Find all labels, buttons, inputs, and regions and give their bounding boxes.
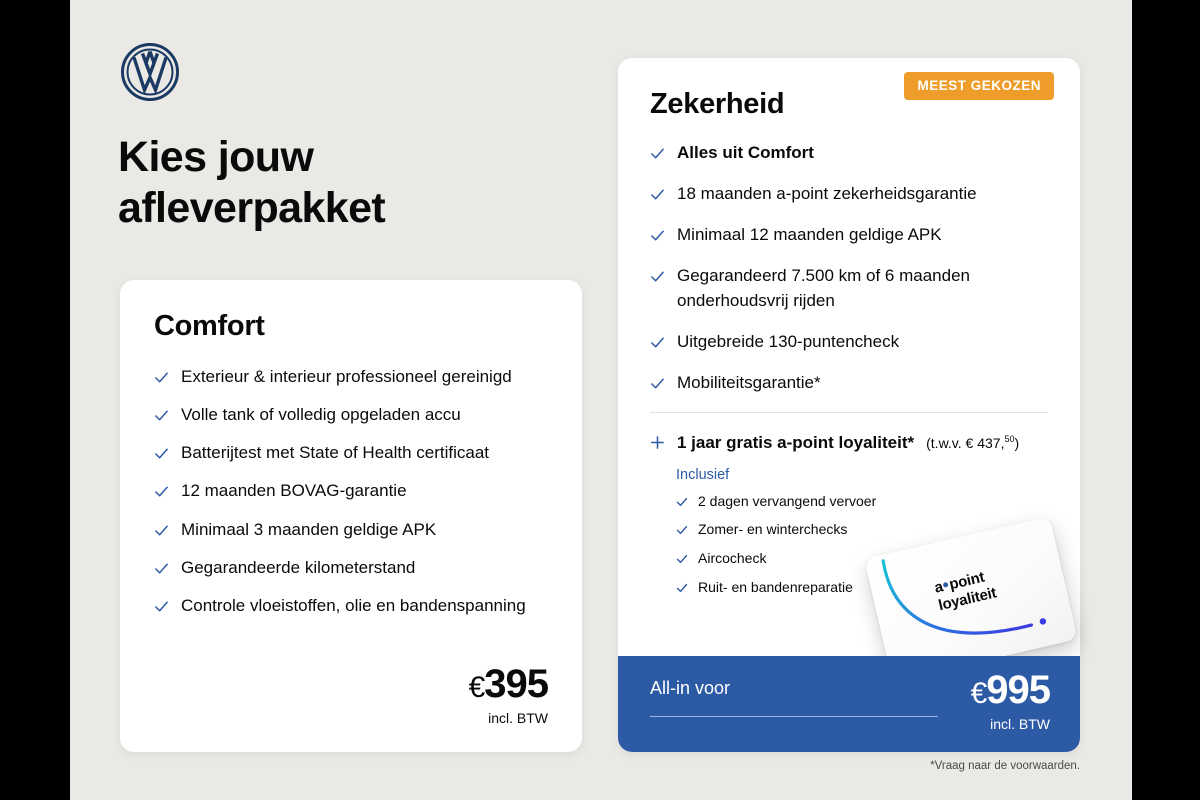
loyalty-title: 1 jaar gratis a-point loyaliteit* (677, 433, 914, 453)
check-icon (650, 335, 665, 350)
check-icon (650, 146, 665, 161)
footnote-text: *Vraag naar de voorwaarden. (930, 760, 1080, 772)
check-icon (650, 376, 665, 391)
list-item: Volle tank of volledig opgeladen accu (154, 403, 548, 427)
feature-text: Gegarandeerd 7.500 km of 6 maanden onder… (677, 264, 1048, 312)
list-item: Controle vloeistoffen, olie en bandenspa… (154, 594, 548, 618)
feature-text: Exterieur & interieur professioneel gere… (181, 365, 512, 389)
currency-symbol: € (971, 677, 987, 710)
feature-text: Alles uit Comfort (677, 141, 814, 165)
section-divider (650, 412, 1048, 413)
plus-icon (650, 435, 665, 450)
allin-price-footer: All-in voor €995 incl. BTW (618, 656, 1080, 752)
inclusief-label: Inclusief (676, 467, 1048, 483)
check-icon (154, 370, 169, 385)
list-item: Minimaal 3 maanden geldige APK (154, 518, 548, 542)
loyalty-value-suffix: ) (1014, 435, 1019, 451)
check-icon (154, 484, 169, 499)
list-item: Mobiliteitsgarantie* (650, 371, 1048, 395)
list-item: Gegarandeerde kilometerstand (154, 556, 548, 580)
list-item: 18 maanden a-point zekerheidsgarantie (650, 182, 1048, 206)
package-card-zekerheid[interactable]: MEEST GEKOZEN Zekerheid Alles uit Comfor… (618, 58, 1080, 752)
status-badge-most-chosen: MEEST GEKOZEN (904, 72, 1054, 100)
page-title-line-1: Kies jouw (118, 133, 313, 181)
currency-symbol: € (469, 671, 485, 704)
volkswagen-logo (120, 42, 180, 102)
feature-text: 2 dagen vervangend vervoer (698, 492, 876, 512)
loyalty-value: (t.w.v. € 437,50) (926, 434, 1019, 451)
feature-text: Aircocheck (698, 549, 766, 569)
screenshot-stage: Kies jouw afleverpakket Comfort Exterieu… (0, 0, 1200, 800)
list-item: 2 dagen vervangend vervoer (676, 492, 1048, 512)
comfort-feature-list: Exterieur & interieur professioneel gere… (154, 365, 548, 618)
check-icon (154, 561, 169, 576)
feature-text: Controle vloeistoffen, olie en bandenspa… (181, 594, 526, 618)
feature-text: Minimaal 12 maanden geldige APK (677, 223, 942, 247)
check-icon (154, 446, 169, 461)
list-item: Minimaal 12 maanden geldige APK (650, 223, 1048, 247)
feature-text: Mobiliteitsgarantie* (677, 371, 821, 395)
price-value: 395 (484, 662, 548, 706)
feature-text: Gegarandeerde kilometerstand (181, 556, 415, 580)
loyalty-value-prefix: (t.w.v. € 437, (926, 435, 1004, 451)
check-icon (650, 269, 665, 284)
check-icon (676, 496, 688, 508)
check-icon (154, 523, 169, 538)
comfort-price: €395 incl. BTW (469, 664, 548, 726)
loyalty-value-cents: 50 (1004, 434, 1014, 444)
feature-text: Ruit- en bandenreparatie (698, 578, 853, 598)
check-icon (676, 553, 688, 565)
page-title-line-2: afleverpakket (118, 184, 385, 232)
list-item: Exterieur & interieur professioneel gere… (154, 365, 548, 389)
zekerheid-feature-list: Alles uit Comfort 18 maanden a-point zek… (650, 141, 1048, 395)
list-item: Gegarandeerd 7.500 km of 6 maanden onder… (650, 264, 1048, 312)
check-icon (154, 599, 169, 614)
feature-text: Zomer- en winterchecks (698, 520, 847, 540)
feature-text: 12 maanden BOVAG-garantie (181, 479, 407, 503)
price-amount: €995 (971, 670, 1050, 710)
check-icon (676, 582, 688, 594)
feature-text: 18 maanden a-point zekerheidsgarantie (677, 182, 977, 206)
price-amount: €395 (469, 664, 548, 704)
page-title: Kies jouw afleverpakket (118, 132, 578, 233)
list-item: Uitgebreide 130-puntencheck (650, 330, 1048, 354)
allin-price: €995 incl. BTW (971, 670, 1050, 732)
feature-text: Volle tank of volledig opgeladen accu (181, 403, 461, 427)
check-icon (676, 524, 688, 536)
price-note: incl. BTW (469, 710, 548, 726)
list-item: Alles uit Comfort (650, 141, 1048, 165)
price-value: 995 (986, 668, 1050, 712)
loyalty-addon-row: 1 jaar gratis a-point loyaliteit* (t.w.v… (650, 433, 1048, 453)
check-icon (650, 228, 665, 243)
page-canvas: Kies jouw afleverpakket Comfort Exterieu… (70, 0, 1132, 800)
comfort-card-title: Comfort (154, 310, 548, 343)
list-item: 12 maanden BOVAG-garantie (154, 479, 548, 503)
feature-text: Uitgebreide 130-puntencheck (677, 330, 899, 354)
check-icon (650, 187, 665, 202)
list-item: Batterijtest met State of Health certifi… (154, 441, 548, 465)
price-note: incl. BTW (971, 716, 1050, 732)
feature-text: Batterijtest met State of Health certifi… (181, 441, 489, 465)
package-card-comfort[interactable]: Comfort Exterieur & interieur profession… (120, 280, 582, 752)
feature-text: Minimaal 3 maanden geldige APK (181, 518, 436, 542)
check-icon (154, 408, 169, 423)
divider-line (650, 716, 938, 717)
